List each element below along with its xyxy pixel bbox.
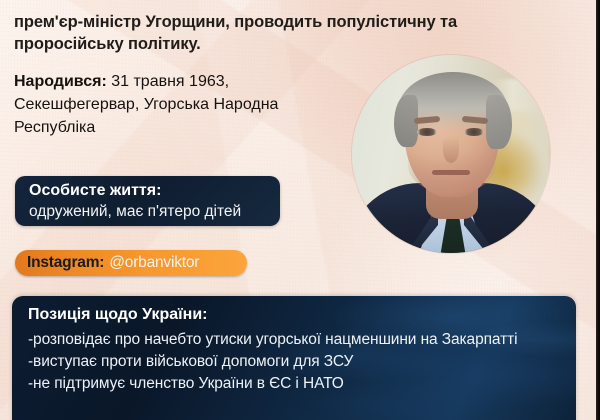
instagram-label: Instagram: [27,254,104,272]
portrait-eye-left [417,128,437,136]
portrait-image [352,55,550,253]
personal-life-title: Особисте життя: [29,180,268,201]
instagram-handle[interactable]: @orbanviktor [109,254,199,272]
portrait-photo [352,55,550,253]
position-panel: Позиція щодо України: -розповідає про на… [12,296,576,420]
personal-life-banner: Особисте життя: одружений, має п'ятеро д… [15,176,280,226]
personal-life-value: одружений, має п'ятеро дітей [29,201,268,222]
position-item: -виступає проти військової допомоги для … [28,351,562,373]
born-block: Народився: 31 травня 1963, Секешфегервар… [14,70,334,139]
position-item: -розповідає про начебто утиски угорської… [28,329,562,351]
portrait-mouth [432,170,470,175]
portrait-nose [443,137,459,163]
position-title: Позиція щодо України: [28,304,562,326]
born-label: Народився: [14,73,107,90]
instagram-badge[interactable]: Instagram: @orbanviktor [15,250,247,276]
right-border-strip [596,0,600,420]
portrait-eye-right [464,128,484,136]
infographic-card: прем'єр-міністр Угорщини, проводить попу… [0,0,600,420]
intro-paragraph: прем'єр-міністр Угорщини, проводить попу… [14,11,494,55]
position-panel-content: Позиція щодо України: -розповідає про на… [12,296,576,420]
position-item: -не підтримує членство України в ЄС і НА… [28,373,562,395]
